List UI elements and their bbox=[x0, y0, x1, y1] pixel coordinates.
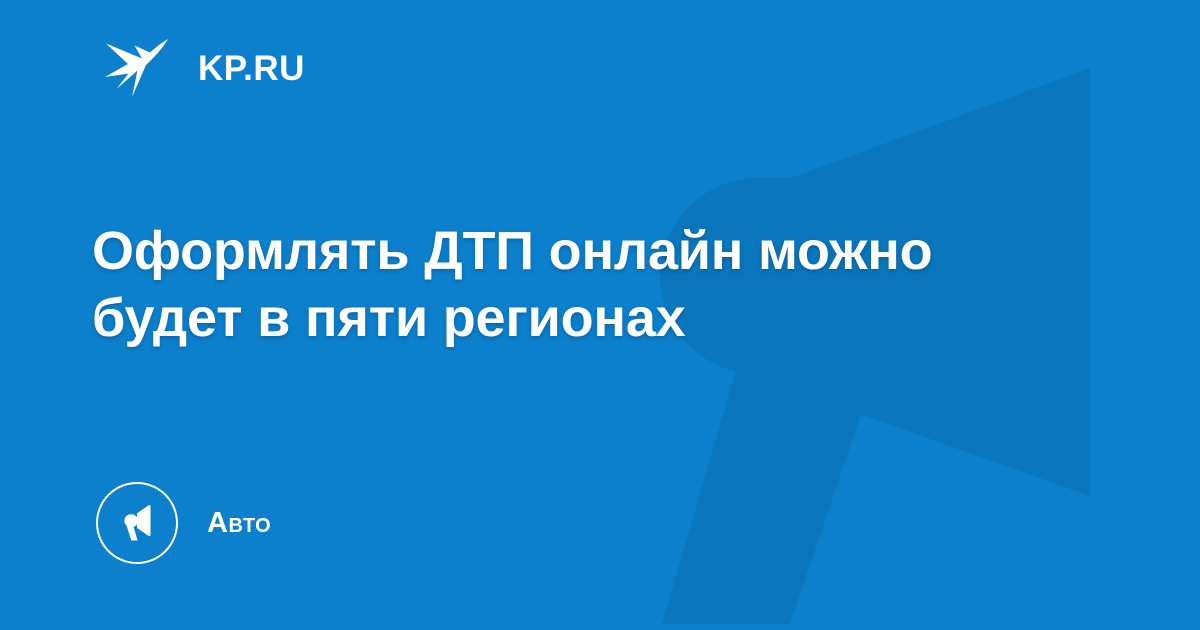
brand-logo[interactable]: KP.RU bbox=[104, 36, 305, 100]
swallow-bird-icon bbox=[104, 37, 176, 99]
brand-name: KP.RU bbox=[198, 51, 305, 86]
social-share-card: KP.RU Оформлять ДТП онлайн можно будет в… bbox=[0, 0, 1200, 630]
rubric-badge[interactable]: Авто bbox=[96, 482, 271, 564]
rubric-icon-circle bbox=[96, 482, 178, 564]
megaphone-icon bbox=[116, 502, 158, 544]
page-title: Оформлять ДТП онлайн можно будет в пяти … bbox=[92, 218, 1052, 352]
rubric-label: Авто bbox=[207, 509, 271, 538]
